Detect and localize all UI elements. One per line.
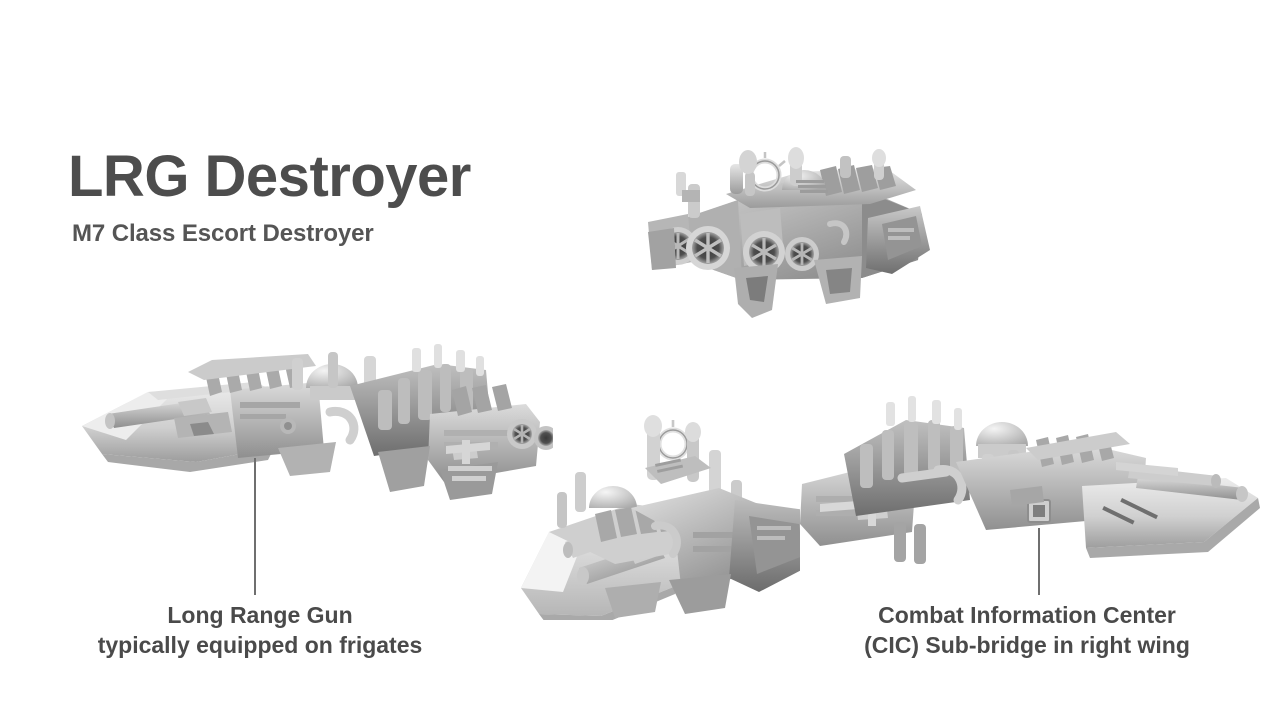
render-port-side-profile-view <box>78 330 553 510</box>
ship-port-profile-graphic <box>78 330 553 510</box>
page-title: LRG Destroyer <box>68 148 471 206</box>
ship-starboard-profile-graphic <box>786 392 1264 564</box>
render-rear-three-quarter-view <box>630 128 950 323</box>
callout-long-range-gun-line1: Long Range Gun <box>60 600 460 630</box>
callout-cic-line2: (CIC) Sub-bridge in right wing <box>836 630 1218 660</box>
page-subtitle: M7 Class Escort Destroyer <box>72 222 374 246</box>
render-front-three-quarter-view <box>505 392 800 620</box>
callout-combat-information-center: Combat Information Center (CIC) Sub-brid… <box>836 600 1218 661</box>
ship-rear-view-graphic <box>630 128 950 323</box>
slide-canvas: LRG Destroyer M7 Class Escort Destroyer <box>0 0 1280 720</box>
callout-long-range-gun-line2: typically equipped on frigates <box>60 630 460 660</box>
callout-long-range-gun: Long Range Gun typically equipped on fri… <box>60 600 460 661</box>
leader-line-combat-information-center <box>1038 528 1040 595</box>
render-starboard-side-profile-view <box>786 392 1264 564</box>
callout-cic-line1: Combat Information Center <box>836 600 1218 630</box>
leader-line-long-range-gun <box>254 458 256 595</box>
ship-front-view-graphic <box>505 392 800 620</box>
